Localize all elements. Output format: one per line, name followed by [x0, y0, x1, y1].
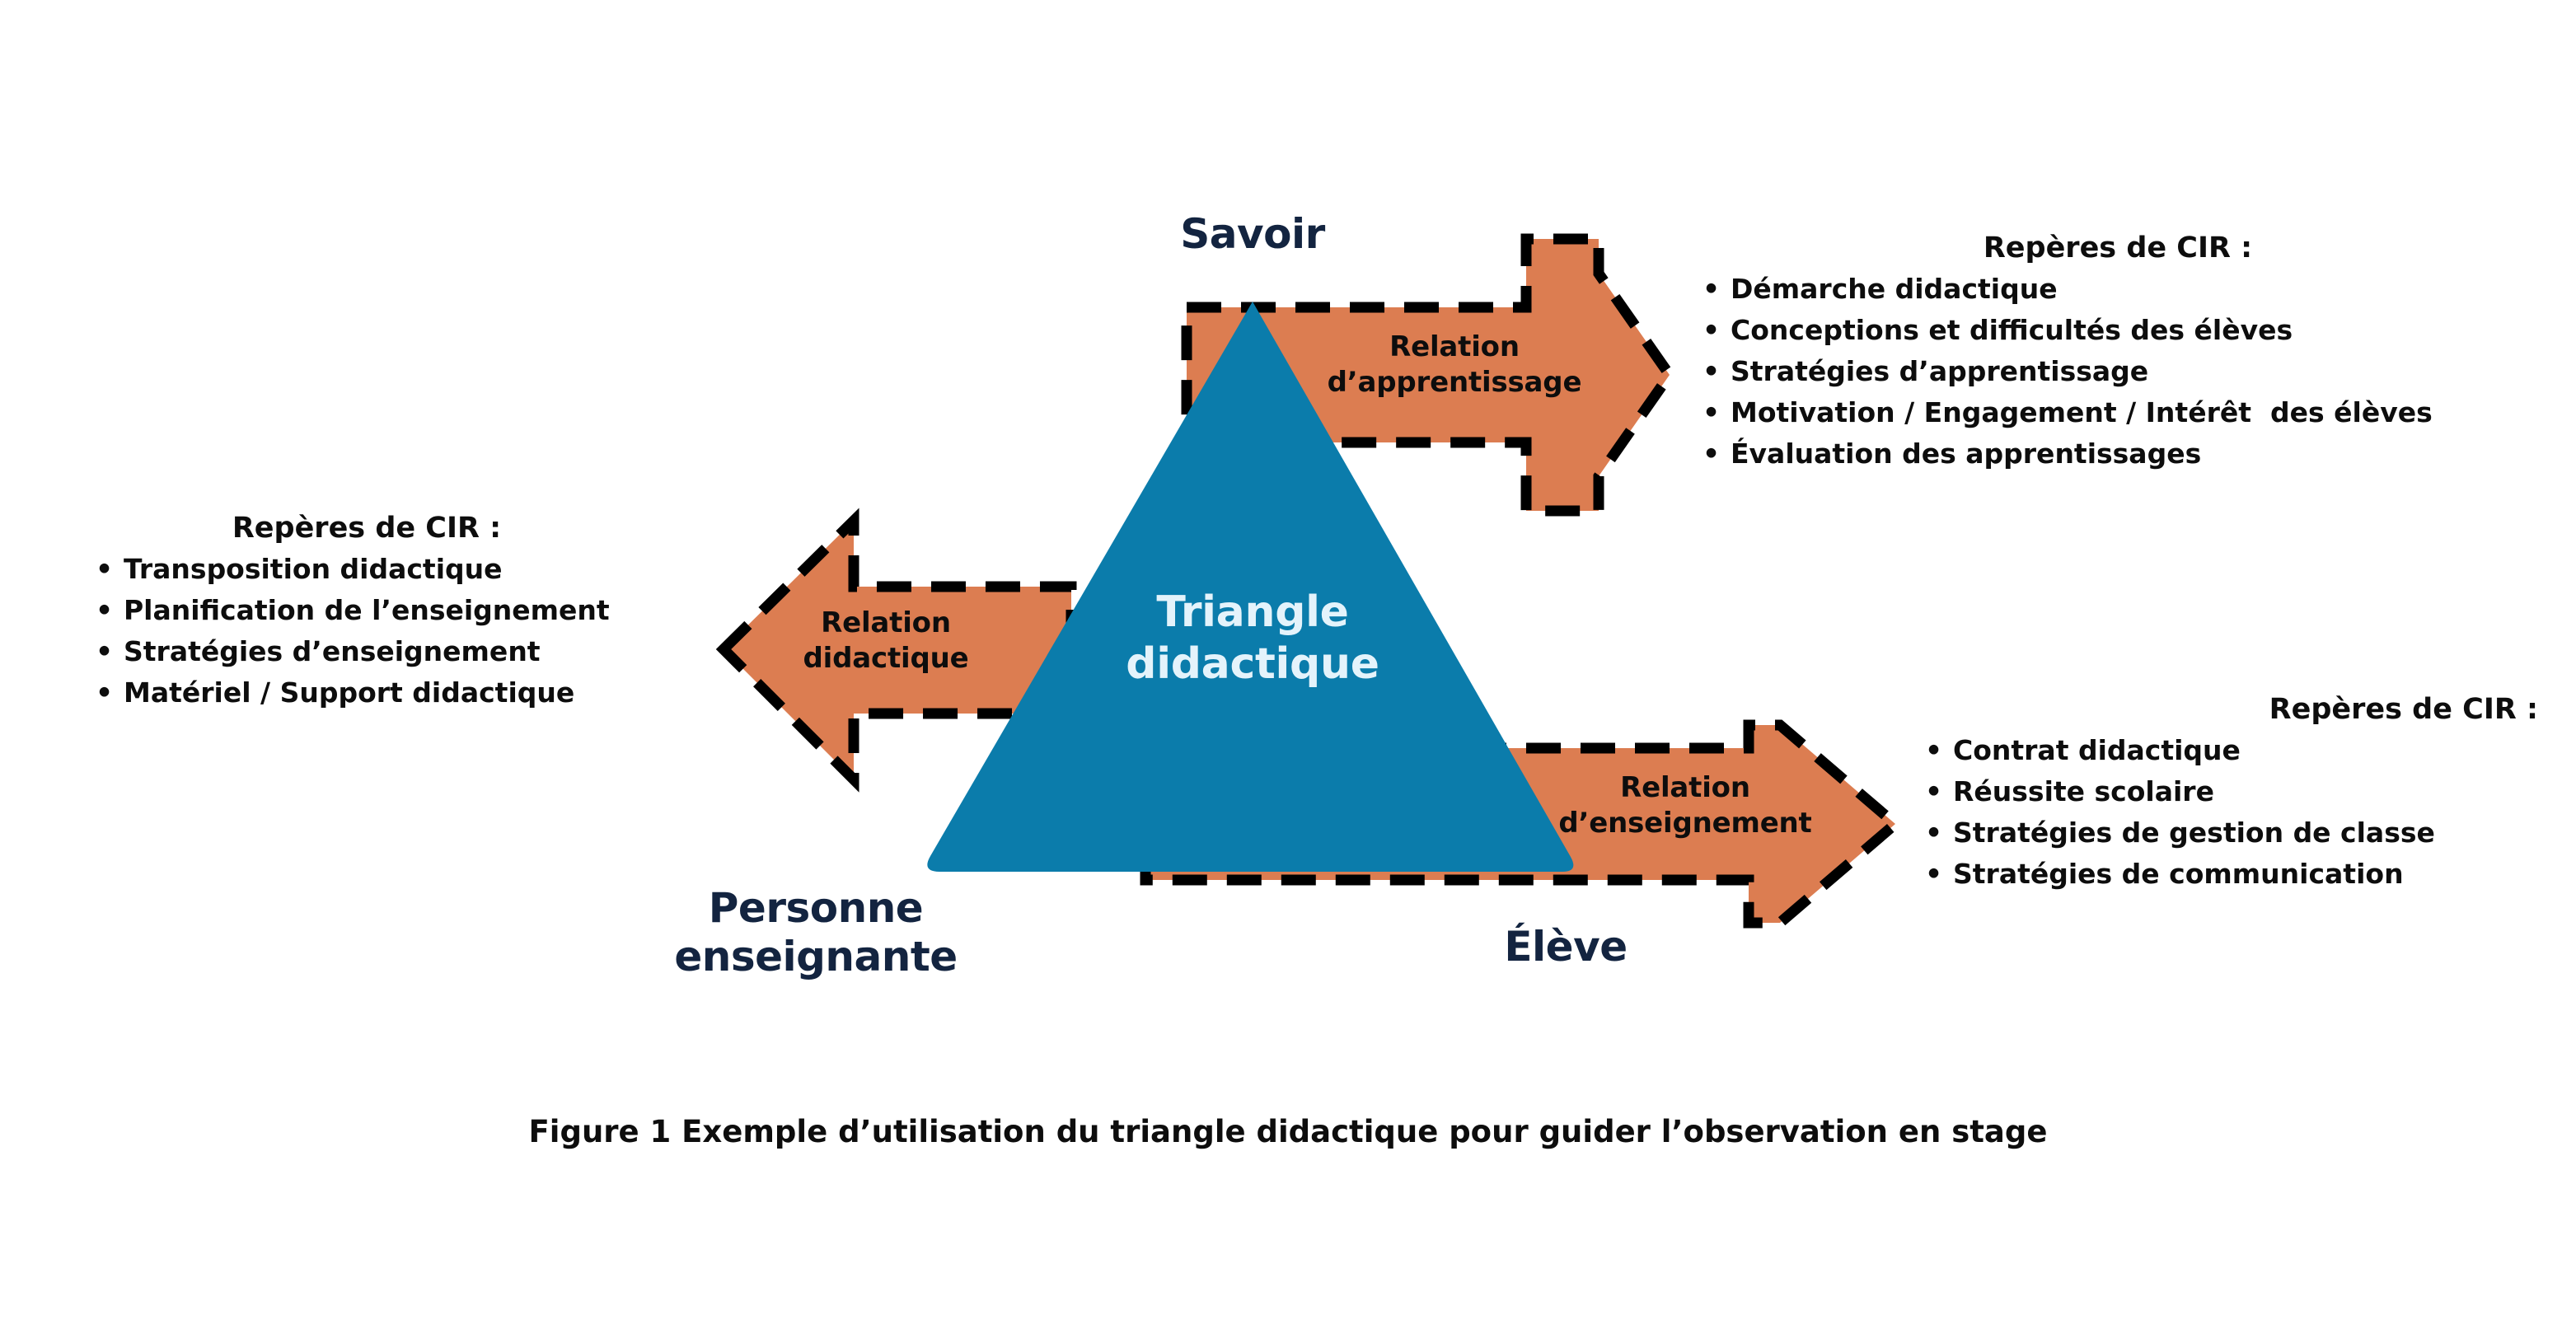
arrow-label-relation-apprentissage: Relationd’apprentissage — [1327, 330, 1582, 400]
node-label-personne-enseignante: Personneenseignante — [610, 884, 1022, 981]
bullet-icon: • — [1703, 438, 1720, 471]
cir-title-top-right: Repères de CIR : — [1698, 231, 2538, 265]
arrow-label-apprentissage-line1: Relation — [1389, 330, 1520, 363]
list-item-text: Stratégies d’apprentissage — [1731, 355, 2148, 387]
bullet-icon: • — [1925, 858, 1942, 891]
node-label-personne-line1: Personne — [709, 884, 923, 932]
bullet-icon: • — [96, 594, 113, 628]
node-label-eleve: Élève — [1401, 923, 1731, 971]
list-item: •Transposition didactique — [91, 553, 643, 587]
didactic-triangle-figure: Savoir Personneenseignante Élève Triangl… — [0, 0, 2576, 1329]
list-item-text: Stratégies de communication — [1953, 858, 2404, 890]
bullet-icon: • — [1703, 273, 1720, 307]
triangle-center-label: Triangledidactique — [1071, 587, 1434, 691]
bullet-icon: • — [1925, 734, 1942, 768]
list-item: •Conceptions et difficultés des élèves — [1698, 314, 2538, 348]
list-item: •Stratégies de communication — [1920, 858, 2538, 891]
list-item: •Évaluation des apprentissages — [1698, 438, 2538, 471]
cir-title-bottom-right: Repères de CIR : — [1920, 692, 2538, 727]
list-item-text: Stratégies d’enseignement — [124, 635, 541, 667]
bullet-icon: • — [1925, 775, 1942, 809]
triangle-center-label-line2: didactique — [1126, 639, 1379, 689]
bullet-icon: • — [96, 553, 113, 587]
triangle-center-label-line1: Triangle — [1156, 587, 1348, 637]
cir-list-top-right: •Démarche didactique •Conceptions et dif… — [1698, 273, 2538, 471]
arrow-label-enseignement-line2: d’enseignement — [1558, 807, 1811, 840]
list-item: •Stratégies de gestion de classe — [1920, 817, 2538, 850]
cir-block-top-right: Repères de CIR : •Démarche didactique •C… — [1698, 231, 2538, 479]
list-item: •Stratégies d’enseignement — [91, 635, 643, 669]
list-item: •Réussite scolaire — [1920, 775, 2538, 809]
cir-list-left: •Transposition didactique •Planification… — [91, 553, 643, 710]
list-item-text: Stratégies de gestion de classe — [1953, 817, 2435, 849]
list-item-text: Démarche didactique — [1731, 273, 2058, 305]
list-item-text: Conceptions et difficultés des élèves — [1731, 314, 2293, 346]
arrow-label-enseignement-line1: Relation — [1620, 771, 1750, 804]
cir-block-left: Repères de CIR : •Transposition didactiq… — [91, 511, 643, 718]
bullet-icon: • — [1925, 817, 1942, 850]
list-item-text: Contrat didactique — [1953, 734, 2241, 766]
cir-list-bottom-right: •Contrat didactique •Réussite scolaire •… — [1920, 734, 2538, 891]
list-item-text: Transposition didactique — [124, 553, 503, 585]
list-item: •Motivation / Engagement / Intérêt des é… — [1698, 396, 2538, 430]
list-item-text: Motivation / Engagement / Intérêt des él… — [1731, 396, 2433, 428]
list-item-text: Planification de l’enseignement — [124, 594, 610, 626]
arrow-label-didactique-line1: Relation — [821, 606, 951, 639]
arrow-label-relation-didactique: Relationdidactique — [787, 606, 985, 676]
bullet-icon: • — [96, 676, 113, 710]
node-label-savoir: Savoir — [1096, 210, 1409, 259]
list-item-text: Matériel / Support didactique — [124, 676, 574, 709]
list-item: •Matériel / Support didactique — [91, 676, 643, 710]
bullet-icon: • — [1703, 396, 1720, 430]
list-item-text: Évaluation des apprentissages — [1731, 438, 2201, 470]
list-item: •Contrat didactique — [1920, 734, 2538, 768]
cir-title-left: Repères de CIR : — [91, 511, 643, 545]
list-item: •Démarche didactique — [1698, 273, 2538, 307]
list-item: •Stratégies d’apprentissage — [1698, 355, 2538, 389]
arrow-label-relation-enseignement: Relationd’enseignement — [1549, 770, 1821, 840]
figure-caption: Figure 1 Exemple d’utilisation du triang… — [382, 1114, 2194, 1150]
list-item: •Planification de l’enseignement — [91, 594, 643, 628]
list-item-text: Réussite scolaire — [1953, 775, 2214, 807]
bullet-icon: • — [96, 635, 113, 669]
node-label-personne-line2: enseignante — [674, 933, 957, 980]
bullet-icon: • — [1703, 355, 1720, 389]
arrow-label-didactique-line2: didactique — [803, 642, 969, 675]
bullet-icon: • — [1703, 314, 1720, 348]
cir-block-bottom-right: Repères de CIR : •Contrat didactique •Ré… — [1920, 692, 2538, 899]
arrow-label-apprentissage-line2: d’apprentissage — [1328, 366, 1582, 399]
